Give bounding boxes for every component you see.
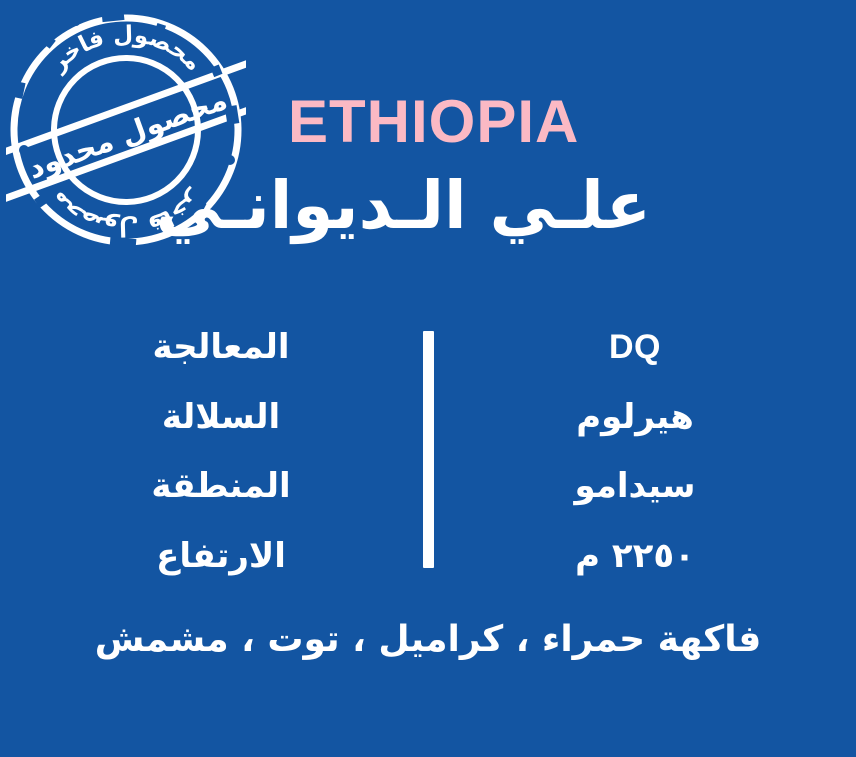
specification-table: المعالجة السلالة المنطقة الارتفاع DQ هير…: [0, 322, 856, 580]
limited-harvest-stamp: محصول فاخر محصول فاخر محصول محدود: [6, 10, 246, 250]
spec-label-process: المعالجة: [152, 328, 289, 367]
spec-value-variety: هيرلوم: [576, 398, 694, 437]
spec-label-column: المعالجة السلالة المنطقة الارتفاع: [99, 322, 344, 580]
spec-value-process: DQ: [609, 328, 661, 367]
spec-value-column: DQ هيرلوم سيدامو ٢٢٥٠ م: [513, 322, 758, 580]
flavor-notes-text: فاكهة حمراء ، كراميل ، توت ، مشمش: [0, 618, 856, 661]
spec-value-altitude: ٢٢٥٠ م: [575, 537, 695, 576]
origin-country-title: ETHIOPIA: [288, 92, 579, 152]
coffee-label-card: محصول فاخر محصول فاخر محصول محدود ETHIOP…: [0, 0, 856, 757]
spec-vertical-divider: [423, 331, 434, 568]
spec-value-region: سيدامو: [575, 467, 696, 506]
spec-label-altitude: الارتفاع: [156, 537, 286, 576]
spec-label-region: المنطقة: [151, 467, 290, 506]
stamp-arc-bottom-text: محصول فاخر: [45, 185, 207, 240]
spec-label-variety: السلالة: [162, 398, 280, 437]
